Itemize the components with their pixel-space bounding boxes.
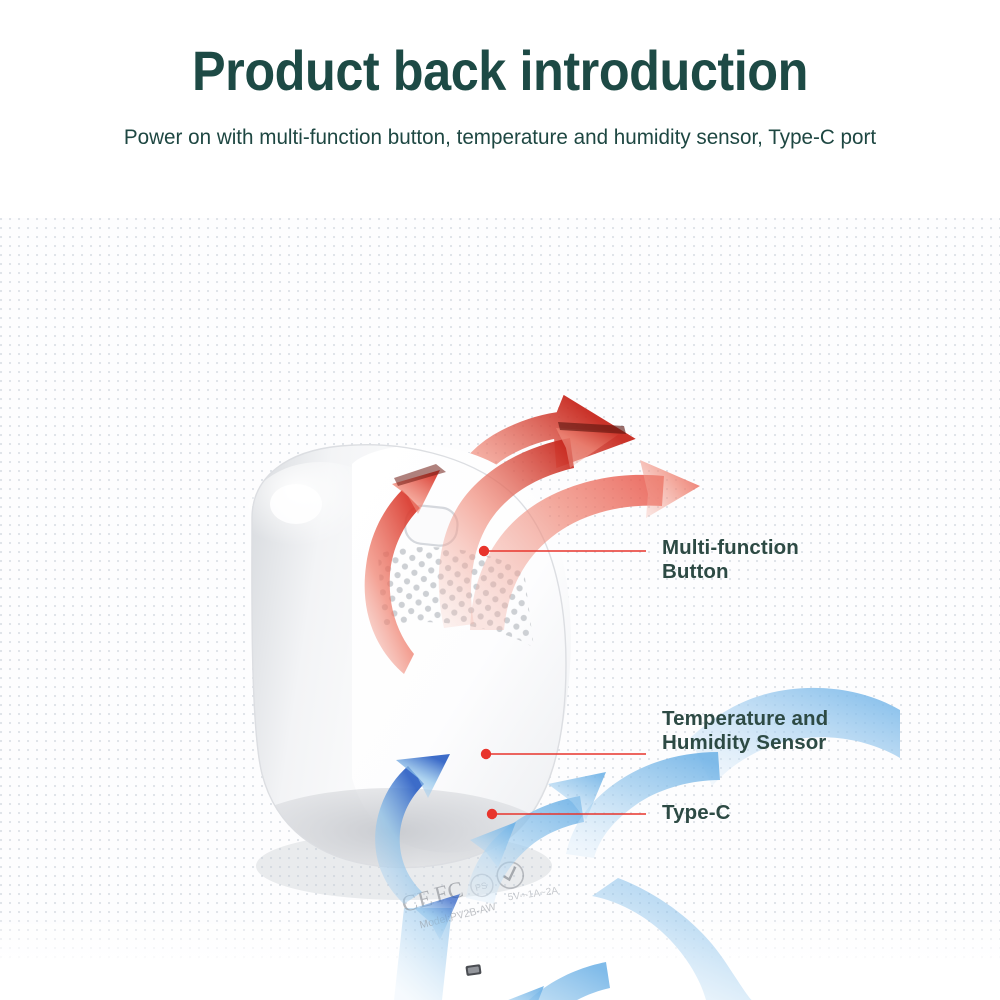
page-title: Product back introduction [50,0,950,101]
callout-marker-sensor [481,749,491,759]
callout-marker-button [479,546,489,556]
header: Product back introduction Power on with … [0,0,1000,150]
product-feature-slide: Product back introduction Power on with … [0,0,1000,1000]
callout-label-type-c: Type-C [662,801,731,825]
product-illustration: CE FC PS Model:PV2B-AW 5V⎓1A~2A [0,218,1000,1000]
callout-marker-typec [487,809,497,819]
temperature-humidity-sensor-slot [465,964,481,976]
callout-label-multi-function-button: Multi-function Button [662,536,799,584]
page-subtitle: Power on with multi-function button, tem… [20,101,980,150]
product-illustration-stage: CE FC PS Model:PV2B-AW 5V⎓1A~2A [0,218,1000,1000]
callout-label-temperature-humidity-sensor: Temperature and Humidity Sensor [662,707,828,755]
